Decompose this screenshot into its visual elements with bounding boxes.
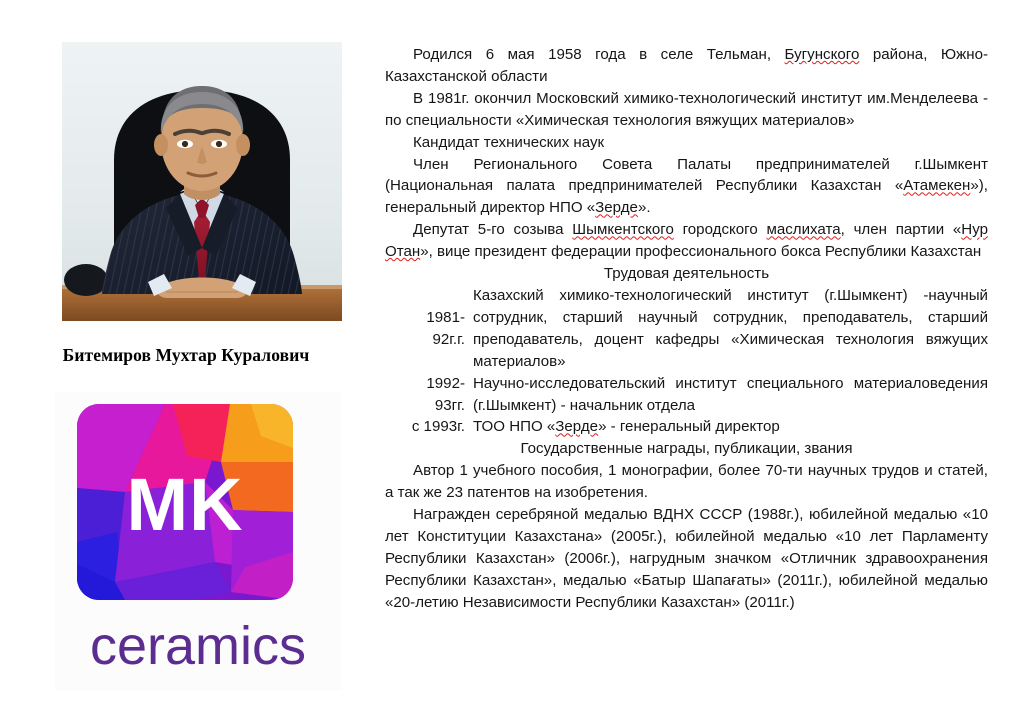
- left-media-column: Битемиров Мухтар Куралович: [0, 0, 372, 719]
- career-year-line: 1992-: [385, 373, 465, 395]
- person-name-caption: Битемиров Мухтар Куралович: [0, 345, 372, 366]
- text-run: , член партии «: [841, 221, 962, 238]
- career-years-3: с 1993г.: [385, 416, 473, 438]
- awards-section-heading: Государственные награды, публикации, зва…: [385, 438, 988, 460]
- logo-illustration: MK ceramics: [55, 392, 342, 690]
- table-row: 1981- 92г.г. Казахский химико-технологич…: [385, 285, 988, 373]
- career-description-3: ТОО НПО «Зерде» - генеральный директор: [473, 416, 988, 438]
- career-section-heading: Трудовая деятельность: [385, 263, 988, 285]
- career-table-body: 1981- 92г.г. Казахский химико-технологич…: [385, 285, 988, 438]
- portrait-illustration: [62, 42, 342, 321]
- biography-document-body: Родился 6 мая 1958 года в селе Тельман, …: [385, 44, 988, 614]
- biography-paragraphs: Родился 6 мая 1958 года в селе Тельман, …: [385, 44, 988, 263]
- text-run: Депутат 5-го созыва: [413, 221, 572, 238]
- mk-ceramics-logo: MK ceramics: [55, 392, 342, 690]
- text-run: ».: [638, 199, 651, 216]
- paragraph-membership: Член Регионального Совета Палаты предпри…: [385, 154, 988, 220]
- text-run: Кандидат технических наук: [413, 134, 604, 151]
- spellcheck-underlined-word: Зерде: [595, 199, 638, 216]
- portrait-photo: [62, 42, 342, 321]
- text-run: Родился 6 мая 1958 года в селе Тельман,: [413, 46, 785, 63]
- career-year-line: 1981-: [385, 307, 465, 329]
- spellcheck-underlined-word: маслихата: [766, 221, 840, 238]
- text-run: » - генеральный директор: [598, 418, 780, 435]
- career-description-1: Казахский химико-технологический институ…: [473, 285, 988, 373]
- text-run: В 1981г. окончил Московский химико-техно…: [385, 90, 988, 129]
- text-run: городского: [674, 221, 767, 238]
- text-run: Награжден серебряной медалью ВДНХ СССР (…: [385, 506, 988, 611]
- paragraph-medals: Награжден серебряной медалью ВДНХ СССР (…: [385, 504, 988, 614]
- text-run: Автор 1 учебного пособия, 1 монографии, …: [385, 462, 988, 501]
- career-year-line: с 1993г.: [385, 416, 465, 438]
- spellcheck-underlined-word: Шымкентского: [572, 221, 674, 238]
- awards-paragraphs: Автор 1 учебного пособия, 1 монографии, …: [385, 460, 988, 613]
- paragraph-birth: Родился 6 мая 1958 года в селе Тельман, …: [385, 44, 988, 88]
- text-run: », вице президент федерации профессионал…: [420, 243, 981, 260]
- spellcheck-underlined-word: Зерде: [555, 418, 598, 435]
- career-year-line: 92г.г.: [385, 329, 465, 351]
- spellcheck-underlined-word: Атамекен: [903, 177, 970, 194]
- paragraph-education: В 1981г. окончил Московский химико-техно…: [385, 88, 988, 132]
- paragraph-degree: Кандидат технических наук: [385, 132, 988, 154]
- table-row: с 1993г. ТОО НПО «Зерде» - генеральный д…: [385, 416, 988, 438]
- career-years-1: 1981- 92г.г.: [385, 285, 473, 373]
- career-description-2: Научно-исследовательский институт специа…: [473, 373, 988, 417]
- logo-ceramics-text: ceramics: [90, 616, 306, 676]
- career-years-2: 1992- 93гг.: [385, 373, 473, 417]
- table-row: 1992- 93гг. Научно-исследовательский инс…: [385, 373, 988, 417]
- career-years-pad: [385, 285, 465, 307]
- text-run: ТОО НПО «: [473, 418, 555, 435]
- text-run: Член Регионального Совета Палаты предпри…: [385, 156, 988, 195]
- career-year-line: 93гг.: [385, 395, 465, 417]
- logo-mk-text: MK: [126, 463, 243, 546]
- career-table: 1981- 92г.г. Казахский химико-технологич…: [385, 285, 988, 438]
- paragraph-publications: Автор 1 учебного пособия, 1 монографии, …: [385, 460, 988, 504]
- spellcheck-underlined-word: Бугунского: [785, 46, 860, 63]
- paragraph-deputy: Депутат 5-го созыва Шымкентского городск…: [385, 219, 988, 263]
